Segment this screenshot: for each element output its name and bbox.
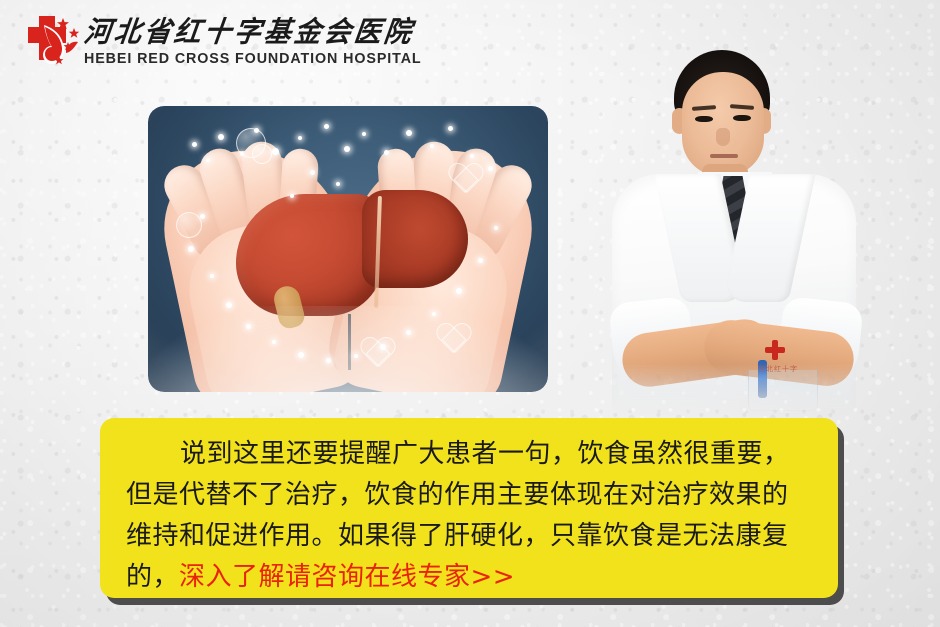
red-cross-dove-logo-icon — [14, 15, 80, 71]
hospital-name-group: 河北省红十字基金会医院 HEBEI RED CROSS FOUNDATION H… — [84, 18, 422, 68]
coat-badge-text: 河北红十字 — [758, 364, 798, 374]
hospital-logo-block[interactable]: 河北省红十字基金会医院 HEBEI RED CROSS FOUNDATION H… — [14, 12, 422, 74]
callout-box: 说到这里还要提醒广大患者一句，饮食虽然很重要，但是代替不了治疗，饮食的作用主要体… — [100, 418, 838, 598]
callout-paragraph: 说到这里还要提醒广大患者一句，饮食虽然很重要，但是代替不了治疗，饮食的作用主要体… — [126, 434, 814, 598]
promo-banner: 河北省红十字基金会医院 HEBEI RED CROSS FOUNDATION H… — [0, 0, 940, 627]
liver-organ-graphic — [236, 190, 468, 318]
coat-cross-badge-icon — [764, 340, 786, 360]
doctor-portrait: 河北红十字 — [606, 46, 918, 416]
consult-expert-link[interactable]: 深入了解请咨询在线专家>> — [179, 562, 515, 592]
hospital-name-cn: 河北省红十字基金会医院 — [82, 17, 423, 49]
hospital-name-en: HEBEI RED CROSS FOUNDATION HOSPITAL — [84, 50, 422, 68]
liver-in-hands-photo — [148, 106, 548, 392]
